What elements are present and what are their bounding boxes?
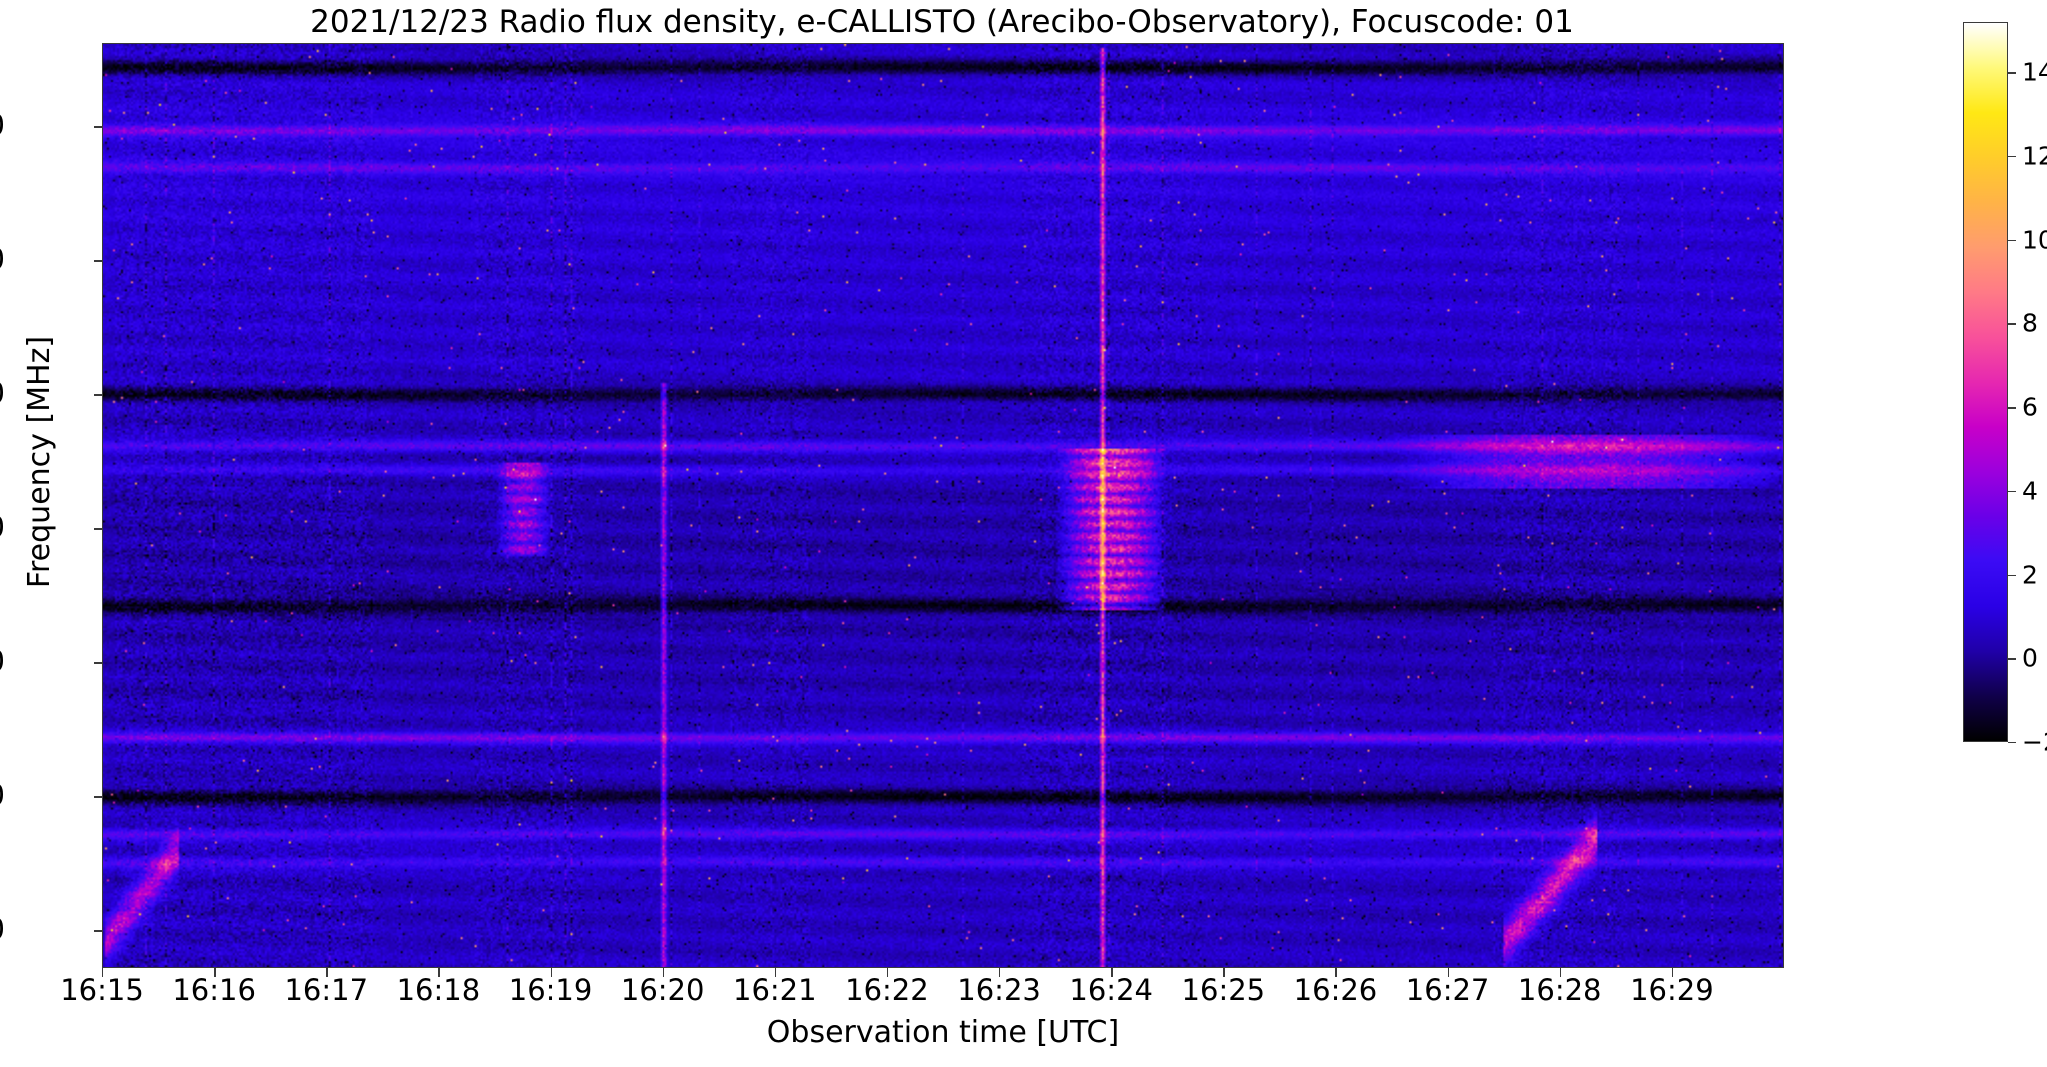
x-tick-mark — [887, 968, 888, 977]
x-tick-label: 16:17 — [284, 974, 368, 1006]
colorbar-tick-mark — [2008, 407, 2016, 408]
x-tick-label: 16:24 — [1069, 974, 1153, 1006]
y-axis-label: Frequency [MHz] — [25, 252, 55, 672]
page-title: 2021/12/23 Radio flux density, e-CALLIST… — [102, 4, 1782, 40]
y-tick-label: 30 — [0, 781, 5, 810]
x-tick-mark — [775, 968, 776, 977]
x-tick-label: 16:27 — [1406, 974, 1490, 1006]
colorbar-tick-label: 14 — [2022, 60, 2047, 85]
colorbar-tick-mark — [2008, 658, 2016, 659]
colorbar-tick-mark — [2008, 240, 2016, 241]
x-tick-label: 16:21 — [733, 974, 817, 1006]
x-tick-label: 16:16 — [172, 974, 256, 1006]
x-tick-label: 16:25 — [1182, 974, 1266, 1006]
x-tick-mark — [1223, 968, 1224, 977]
colorbar-tick-mark — [2008, 742, 2016, 743]
colorbar-gradient — [1964, 23, 2007, 741]
x-tick-label: 16:28 — [1518, 974, 1602, 1006]
x-tick-mark — [1560, 968, 1561, 977]
x-tick-mark — [102, 968, 103, 977]
spectrogram-image — [103, 44, 1783, 967]
colorbar-tick-mark — [2008, 323, 2016, 324]
y-tick-mark — [94, 528, 103, 529]
y-tick-label: 80 — [0, 111, 5, 140]
x-tick-label: 16:23 — [957, 974, 1041, 1006]
spectrogram-plot-area — [102, 43, 1784, 968]
y-tick-mark — [94, 126, 103, 127]
x-tick-mark — [1335, 968, 1336, 977]
y-tick-label: 50 — [0, 513, 5, 542]
colorbar-tick-label: 0 — [2022, 646, 2038, 671]
colorbar-tick-mark — [2008, 491, 2016, 492]
colorbar-tick-label: 8 — [2022, 311, 2038, 336]
y-tick-label: 20 — [0, 915, 5, 944]
y-tick-label: 60 — [0, 379, 5, 408]
x-tick-label: 16:22 — [845, 974, 929, 1006]
x-tick-label: 16:29 — [1630, 974, 1714, 1006]
colorbar — [1963, 22, 2008, 742]
x-tick-label: 16:15 — [60, 974, 144, 1006]
colorbar-tick-label: 10 — [2022, 227, 2047, 252]
x-tick-mark — [438, 968, 439, 977]
colorbar-tick-label: 4 — [2022, 478, 2038, 503]
colorbar-tick-label: 6 — [2022, 395, 2038, 420]
x-tick-mark — [551, 968, 552, 977]
colorbar-tick-label: 12 — [2022, 143, 2047, 168]
colorbar-tick-label: −2 — [2022, 730, 2047, 755]
x-tick-label: 16:19 — [509, 974, 593, 1006]
colorbar-tick-mark — [2008, 156, 2016, 157]
x-tick-label: 16:18 — [397, 974, 481, 1006]
y-tick-mark — [94, 796, 103, 797]
colorbar-tick-mark — [2008, 72, 2016, 73]
y-tick-label: 70 — [0, 245, 5, 274]
x-tick-mark — [1111, 968, 1112, 977]
x-tick-mark — [1672, 968, 1673, 977]
y-tick-mark — [94, 930, 103, 931]
y-tick-mark — [94, 260, 103, 261]
spectrogram-canvas — [103, 44, 1783, 967]
x-tick-label: 16:26 — [1294, 974, 1378, 1006]
y-tick-label: 40 — [0, 647, 5, 676]
x-tick-mark — [1448, 968, 1449, 977]
colorbar-tick-label: 2 — [2022, 562, 2038, 587]
x-tick-label: 16:20 — [621, 974, 705, 1006]
x-tick-mark — [663, 968, 664, 977]
colorbar-tick-mark — [2008, 575, 2016, 576]
x-axis-label: Observation time [UTC] — [102, 1016, 1784, 1050]
y-tick-mark — [94, 662, 103, 663]
x-tick-mark — [326, 968, 327, 977]
y-tick-mark — [94, 394, 103, 395]
x-tick-mark — [214, 968, 215, 977]
x-tick-mark — [999, 968, 1000, 977]
